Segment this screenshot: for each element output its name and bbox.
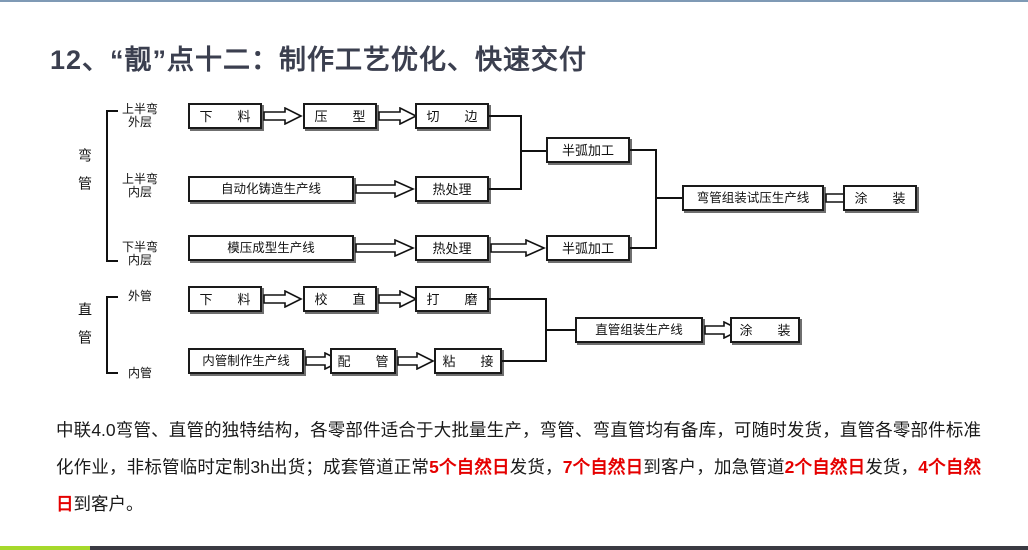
node-straight-assembly-line[interactable]: 直管组装生产线 (575, 317, 703, 343)
sublabel-bent-upper-inner: 上半弯 内层 (112, 173, 168, 199)
connector-bent-merge-2 (630, 247, 657, 249)
footer-progress-accent (0, 546, 90, 550)
node-bent-cutting[interactable]: 下 料 (188, 103, 262, 129)
highlight-7-natural-days: 7个自然日 (563, 457, 644, 477)
node-straight-grinding[interactable]: 打 磨 (415, 286, 489, 312)
group-label-bent-pipe-char1: 弯管 (72, 148, 98, 204)
connector-bent-top-2 (489, 188, 522, 190)
arrow-straight-r1-1 (263, 290, 303, 308)
node-bent-trimming[interactable]: 切 边 (415, 103, 489, 129)
page-title: 12、“靓”点十二：制作工艺优化、快速交付 (50, 38, 587, 77)
group-label-straight-pipe: 直管 (72, 302, 98, 358)
node-bent-assembly-pressure-test-line[interactable]: 弯管组装试压生产线 (682, 185, 824, 211)
node-straight-straightening[interactable]: 校 直 (303, 286, 377, 312)
node-bent-pressing[interactable]: 压 型 (303, 103, 377, 129)
connector-bent-top-1 (489, 115, 522, 117)
node-bent-mold-forming-line[interactable]: 模压成型生产线 (188, 235, 354, 261)
sublabel-bent-upper-outer: 上半弯 外层 (112, 103, 168, 129)
node-bent-auto-casting-line[interactable]: 自动化铸造生产线 (188, 176, 354, 202)
paragraph-text-4: 发货， (865, 457, 918, 477)
node-straight-piping[interactable]: 配 管 (330, 348, 396, 374)
node-bent-heat-treatment-1[interactable]: 热处理 (415, 176, 489, 202)
slide-canvas: 12、“靓”点十二：制作工艺优化、快速交付 弯管 上半弯 外层 上半弯 内层 下… (0, 2, 1028, 550)
paragraph-text-2: 发货， (510, 457, 563, 477)
connector-straight-merge-1 (489, 298, 547, 300)
bracket-straight-pipe (106, 296, 118, 374)
connector-bent-top-vertical (520, 115, 522, 190)
process-flow-diagram: 弯管 上半弯 外层 上半弯 内层 下半弯 内层 下 料 压 型 切 边 (0, 90, 1028, 400)
description-paragraph: 中联4.0弯管、直管的独特结构，各零部件适合于大批量生产，弯管、弯直管均有备库，… (56, 412, 981, 523)
sublabel-straight-outer: 外管 (114, 290, 166, 303)
node-straight-cutting[interactable]: 下 料 (188, 286, 262, 312)
node-straight-coating[interactable]: 涂 装 (730, 317, 800, 343)
arrow-bent-r2-1 (355, 180, 415, 198)
connector-bent-merge-out (655, 197, 684, 199)
group-label-straight-pipe-char1: 直管 (72, 302, 98, 358)
arrow-bent-r1-2 (378, 107, 418, 125)
node-straight-inner-pipe-line[interactable]: 内管制作生产线 (188, 348, 304, 374)
footer-bar (0, 546, 1028, 550)
connector-bent-top-out (520, 150, 548, 152)
arrow-bent-r3-2 (490, 239, 546, 257)
connector-straight-merge-2 (502, 360, 547, 362)
node-bent-arc-machining-bottom[interactable]: 半弧加工 (546, 235, 630, 261)
highlight-2-natural-days: 2个自然日 (785, 457, 866, 477)
node-bent-heat-treatment-2[interactable]: 热处理 (415, 235, 489, 261)
highlight-5-natural-days: 5个自然日 (429, 457, 510, 477)
node-bent-coating[interactable]: 涂 装 (843, 185, 917, 211)
paragraph-text-3: 到客户，加急管道 (643, 457, 784, 477)
arrow-straight-r1-2 (378, 290, 418, 308)
connector-bent-merge-vertical (655, 149, 657, 249)
arrow-bent-r3-1 (355, 239, 415, 257)
sublabel-straight-inner: 内管 (114, 367, 166, 380)
node-bent-arc-machining-top[interactable]: 半弧加工 (546, 137, 630, 163)
connector-bent-merge-1 (630, 149, 657, 151)
connector-straight-merge-out (545, 329, 577, 331)
arrow-straight-r2-2 (397, 352, 435, 370)
sublabel-bent-lower-inner: 下半弯 内层 (112, 241, 168, 267)
paragraph-text-5: 到客户。 (74, 494, 144, 514)
node-straight-bonding[interactable]: 粘 接 (434, 348, 502, 374)
arrow-bent-r1-1 (263, 107, 303, 125)
group-label-bent-pipe: 弯管 (72, 148, 98, 204)
